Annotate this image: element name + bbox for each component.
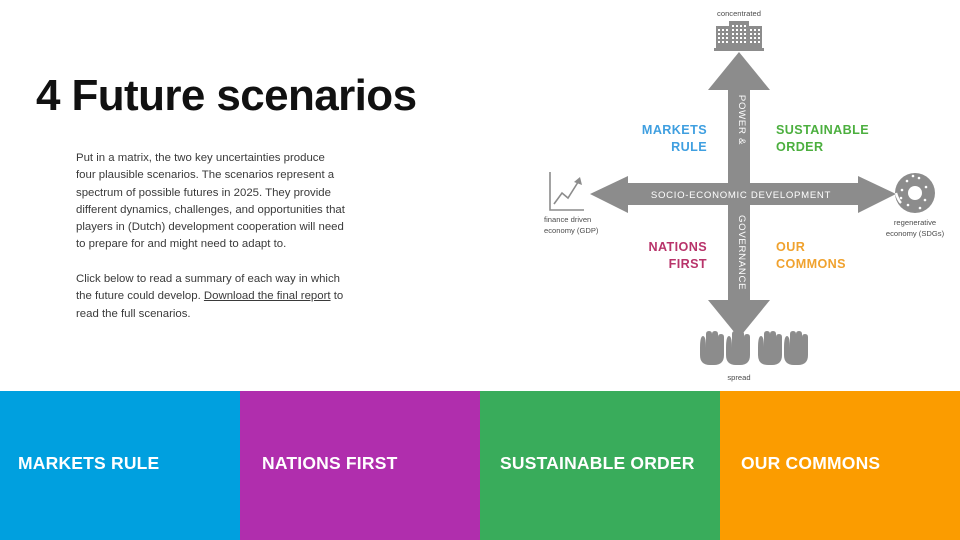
quadrant-our-commons-line1: OUR (776, 240, 805, 254)
scenario-bar-sustainable-order-label: SUSTAINABLE ORDER (500, 453, 695, 474)
scenario-bar-nations-first[interactable]: NATIONS FIRST (240, 391, 480, 540)
slide-canvas: 4 Future scenarios Put in a matrix, the … (0, 0, 960, 540)
quadrant-sustainable-order-line1: SUSTAINABLE (776, 123, 869, 137)
quadrant-markets-rule-line2: RULE (671, 140, 707, 154)
skyscraper-icon (714, 21, 764, 51)
scenario-bar-nations-first-label: NATIONS FIRST (262, 453, 397, 474)
download-final-report-link[interactable]: Download the final report (204, 290, 331, 302)
donut-icon (895, 173, 935, 213)
page-title: 4 Future scenarios (36, 74, 416, 118)
pole-label-left-line1: finance driven (544, 215, 591, 224)
pole-label-right-line1: regenerative (894, 218, 936, 227)
scenario-bar-markets-rule-label: MARKETS RULE (18, 453, 159, 474)
pole-label-top: concentrated (717, 9, 761, 18)
scenario-bar-markets-rule[interactable]: MARKETS RULE (0, 391, 240, 540)
quadrant-markets-rule-line1: MARKETS (642, 123, 707, 137)
scenario-matrix-diagram: POWER & GOVERNANCE SOCIO-ECONOMIC DEVELO… (530, 0, 960, 390)
cta-paragraph: Click below to read a summary of each wa… (76, 271, 346, 323)
vertical-axis-top-label: POWER & (736, 95, 747, 145)
quadrant-label-sustainable-order[interactable]: SUSTAINABLE ORDER (776, 123, 869, 154)
intro-paragraph: Put in a matrix, the two key uncertainti… (76, 150, 346, 254)
vertical-axis-bottom-label: GOVERNANCE (736, 215, 747, 290)
pole-label-bottom: spread (727, 373, 750, 382)
quadrant-label-markets-rule[interactable]: MARKETS RULE (642, 123, 707, 154)
pole-label-left-line2: economy (GDP) (544, 226, 599, 235)
scenario-bar-our-commons[interactable]: OUR COMMONS (720, 391, 960, 540)
horizontal-axis-label: SOCIO-ECONOMIC DEVELOPMENT (651, 190, 831, 201)
quadrant-nations-first-line2: FIRST (669, 257, 707, 271)
pole-label-right-line2: economy (SDGs) (886, 229, 945, 238)
quadrant-label-our-commons[interactable]: OUR COMMONS (776, 240, 846, 271)
line-chart-icon (550, 172, 584, 210)
scenario-bar-sustainable-order[interactable]: SUSTAINABLE ORDER (480, 391, 720, 540)
quadrant-label-nations-first[interactable]: NATIONS FIRST (648, 240, 707, 271)
quadrant-our-commons-line2: COMMONS (776, 257, 846, 271)
scenario-bar-our-commons-label: OUR COMMONS (741, 453, 880, 474)
hands-icon (700, 331, 808, 365)
quadrant-nations-first-line1: NATIONS (648, 240, 707, 254)
scenario-bars: MARKETS RULE NATIONS FIRST SUSTAINABLE O… (0, 391, 960, 540)
quadrant-sustainable-order-line2: ORDER (776, 140, 823, 154)
